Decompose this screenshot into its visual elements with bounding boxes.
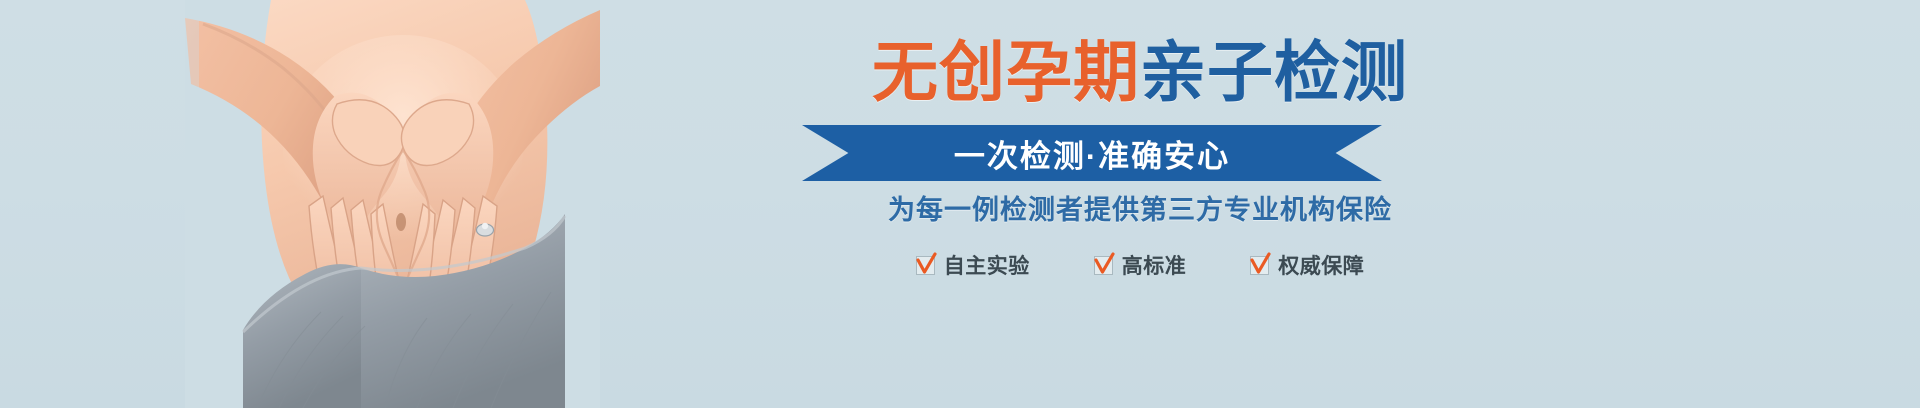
- feature-list: 自主实验 高标准 权威保障: [770, 250, 1510, 280]
- feature-label: 权威保障: [1278, 250, 1364, 280]
- feature-label: 高标准: [1122, 250, 1187, 280]
- hero-photo: [185, 0, 600, 408]
- checkmark-icon: [1094, 256, 1113, 275]
- ribbon-banner: 一次检测·准确安心: [802, 125, 1382, 181]
- banner-content: 无创孕期亲子检测 一次检测·准确安心 为每一例检测者提供第三方专业机构保险 自主…: [760, 0, 1520, 408]
- headline-orange-text: 无创孕期: [872, 35, 1140, 109]
- feature-label: 自主实验: [944, 250, 1030, 280]
- feature-item: 高标准: [1094, 250, 1187, 280]
- promo-banner: 无创孕期亲子检测 一次检测·准确安心 为每一例检测者提供第三方专业机构保险 自主…: [0, 0, 1920, 408]
- checkmark-icon: [1250, 256, 1269, 275]
- feature-item: 权威保障: [1250, 250, 1364, 280]
- tagline: 为每一例检测者提供第三方专业机构保险: [770, 190, 1510, 230]
- checkmark-icon: [916, 256, 935, 275]
- pregnant-belly-heart-hands-image: [185, 0, 600, 408]
- ribbon-text: 一次检测·准确安心: [802, 125, 1382, 181]
- feature-item: 自主实验: [916, 250, 1030, 280]
- headline: 无创孕期亲子检测: [770, 33, 1510, 111]
- headline-blue-text: 亲子检测: [1140, 35, 1408, 109]
